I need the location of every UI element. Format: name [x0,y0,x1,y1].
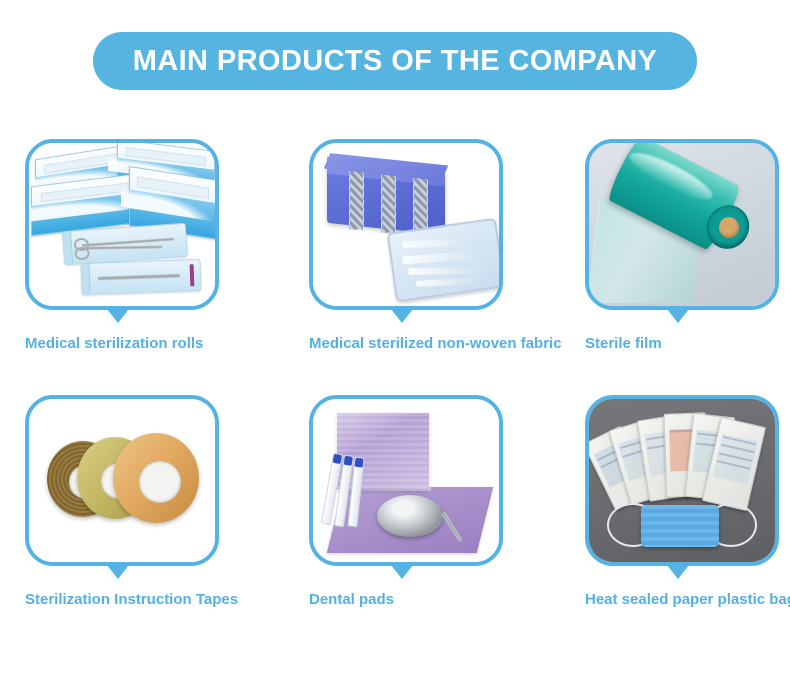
card-tail-icon [107,309,129,323]
product-row: Medical sterilization rolls [0,139,790,395]
product-label: Sterile film [585,335,662,352]
product-label: Sterilization Instruction Tapes [25,591,238,608]
product-card-dental-pads[interactable]: Dental pads [309,395,503,566]
product-card-frame [25,139,219,310]
product-card-medical-sterilized-non-woven-fabric[interactable]: Medical sterilized non-woven fabric [309,139,503,310]
card-tail-icon [667,309,689,323]
card-tail-icon [667,565,689,579]
product-photo-instruction-tapes [29,399,215,562]
product-card-heat-sealed-paper-plastic-bag[interactable]: Heat sealed paper plastic bag [585,395,779,566]
product-label: Medical sterilization rolls [25,335,203,352]
title-banner: MAIN PRODUCTS OF THE COMPANY [93,32,698,90]
product-photo-sterile-film [589,143,775,306]
page-title: MAIN PRODUCTS OF THE COMPANY [133,45,658,78]
product-card-sterilization-instruction-tapes[interactable]: Sterilization Instruction Tapes [25,395,219,566]
product-card-frame [585,139,779,310]
product-photo-dental-pads [313,399,499,562]
product-grid: Medical sterilization rolls [0,139,790,651]
product-card-frame [309,395,503,566]
product-photo-sterilization-rolls [29,143,215,306]
product-label: Dental pads [309,591,394,608]
product-card-frame [585,395,779,566]
product-card-frame [25,395,219,566]
product-card-sterile-film[interactable]: Sterile film [585,139,779,310]
product-card-medical-sterilization-rolls[interactable]: Medical sterilization rolls [25,139,219,310]
product-row: Sterilization Instruction Tapes [0,395,790,651]
card-tail-icon [107,565,129,579]
product-photo-non-woven-fabric [313,143,499,306]
product-label: Heat sealed paper plastic bag [585,591,790,608]
card-tail-icon [391,565,413,579]
page-header: MAIN PRODUCTS OF THE COMPANY [0,32,790,90]
product-label: Medical sterilized non-woven fabric [309,335,562,352]
product-card-frame [309,139,503,310]
card-tail-icon [391,309,413,323]
product-photo-paper-plastic-bag [589,399,775,562]
